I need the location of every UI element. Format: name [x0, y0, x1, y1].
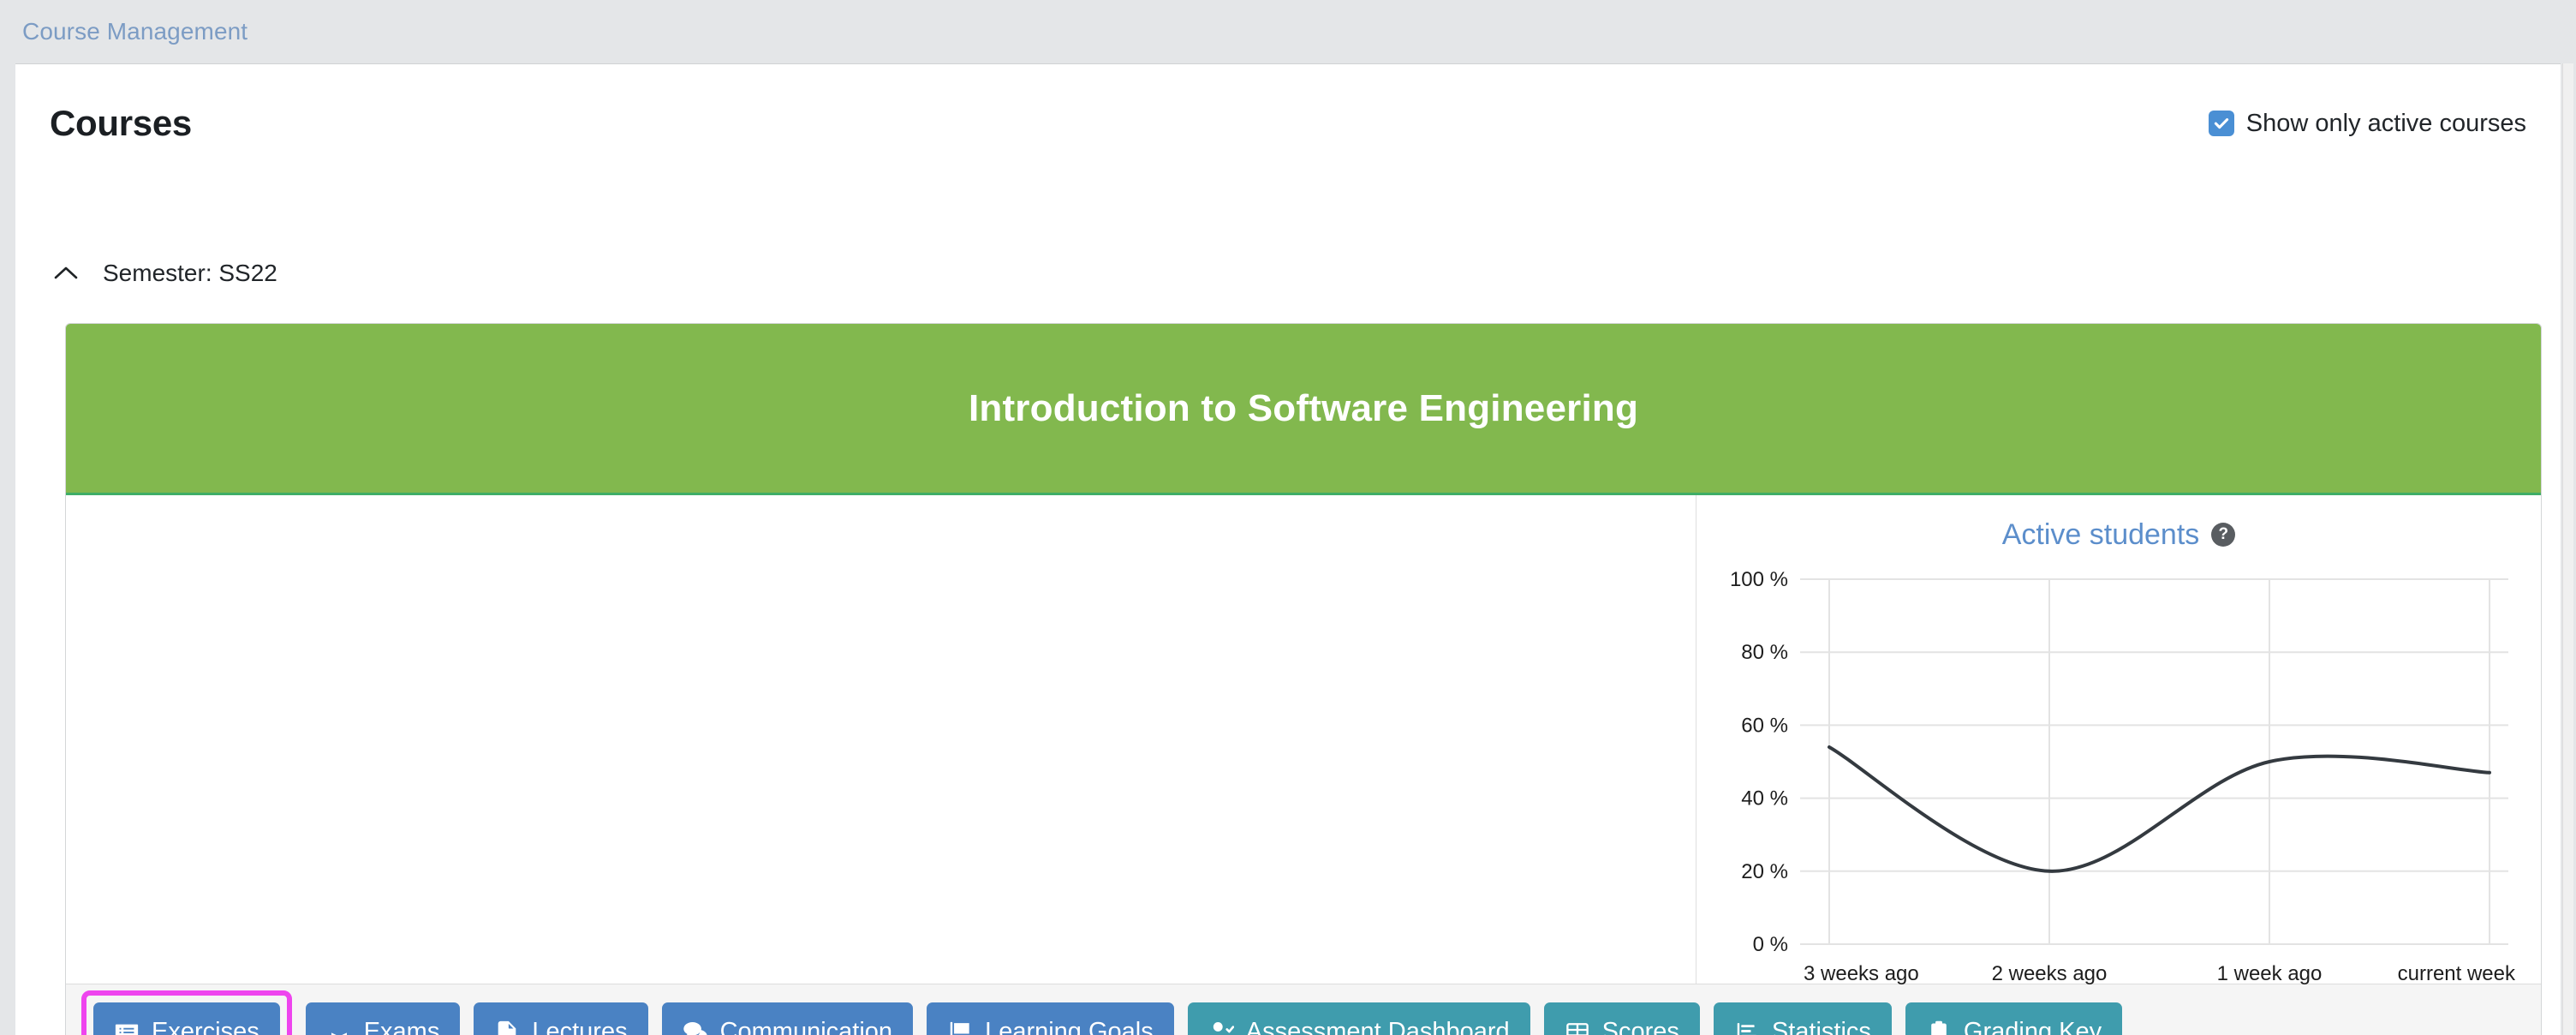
course-action-statistics-button[interactable]: Statistics [1714, 1002, 1892, 1035]
course-title: Introduction to Software Engineering [969, 387, 1638, 430]
x-axis-tick-label: 3 weeks ago [1804, 962, 1919, 985]
x-axis-tick-label: 2 weeks ago [1992, 962, 2108, 985]
flag-icon [947, 1020, 973, 1035]
course-action-exercises-button[interactable]: Exercises [93, 1002, 280, 1035]
course-description-area [66, 495, 1696, 984]
course-action-label: Scores [1602, 1020, 1679, 1035]
course-action-learning-goals-button[interactable]: Learning Goals [927, 1002, 1174, 1035]
y-axis-tick-label: 40 % [1741, 787, 1788, 811]
x-axis-tick-label: 1 week ago [2217, 962, 2323, 985]
question-mark-icon[interactable]: ? [2211, 523, 2235, 547]
breadcrumb-bar: Course Management [0, 0, 2576, 63]
y-axis-tick-label: 100 % [1730, 568, 1788, 591]
pdf-file-icon: PDF [494, 1020, 520, 1035]
course-action-label: Exercises [152, 1020, 259, 1035]
page-title: Courses [50, 103, 192, 144]
course-action-grading-key-button[interactable]: Grading Key [1905, 1002, 2122, 1035]
course-action-exams-button[interactable]: Exams [306, 1002, 461, 1035]
course-card: Introduction to Software Engineering Act… [65, 323, 2542, 1035]
show-only-active-courses-checkbox[interactable] [2209, 111, 2234, 136]
y-axis-tick-label: 80 % [1741, 641, 1788, 664]
user-check-icon [1208, 1020, 1234, 1035]
page-scrollbar[interactable] [2561, 63, 2576, 1035]
course-action-label: Statistics [1772, 1020, 1871, 1035]
course-action-scores-button[interactable]: Scores [1544, 1002, 1700, 1035]
course-action-lectures-button[interactable]: PDFLectures [474, 1002, 647, 1035]
course-action-communication-button[interactable]: Communication [662, 1002, 913, 1035]
table-icon [1565, 1020, 1590, 1035]
course-card-body: Active students ? 100 %80 %60 %40 %20 %0… [66, 495, 2541, 984]
chat-bubbles-icon [683, 1020, 708, 1035]
y-axis-tick-label: 20 % [1741, 860, 1788, 883]
chart-title: Active students [2002, 518, 2200, 552]
course-action-label: Learning Goals [985, 1020, 1154, 1035]
semester-label: Semester: SS22 [103, 260, 277, 287]
show-only-active-courses-toggle[interactable]: Show only active courses [2209, 110, 2526, 138]
graduation-cap-icon [326, 1020, 352, 1035]
course-banner[interactable]: Introduction to Software Engineering [66, 324, 2541, 495]
active-students-line-chart: 100 %80 %60 %40 %20 %0 %3 weeks ago2 wee… [1696, 559, 2541, 996]
active-students-chart: 100 %80 %60 %40 %20 %0 %3 weeks ago2 wee… [1696, 559, 2541, 996]
course-action-label: Communication [720, 1020, 892, 1035]
course-action-label: Lectures [532, 1020, 627, 1035]
breadcrumb-course-management[interactable]: Course Management [22, 18, 247, 45]
list-icon [114, 1020, 140, 1035]
course-action-label: Grading Key [1964, 1020, 2102, 1035]
page-scrollbar-track[interactable] [2562, 63, 2573, 1035]
chart-line-series [1829, 747, 2490, 871]
course-action-label: Exams [364, 1020, 440, 1035]
chevron-up-icon[interactable] [53, 262, 79, 284]
bar-chart-icon [1734, 1020, 1760, 1035]
clipboard-icon [1926, 1020, 1952, 1035]
course-management-page: Course Management Courses Show only acti… [0, 0, 2576, 1035]
course-action-assessment-dashboard-button[interactable]: Assessment Dashboard [1188, 1002, 1530, 1035]
active-students-panel: Active students ? 100 %80 %60 %40 %20 %0… [1696, 495, 2541, 984]
chart-header: Active students ? [1696, 511, 2541, 559]
show-only-active-courses-label: Show only active courses [2246, 110, 2526, 138]
content-sheet: Courses Show only active courses Semeste… [15, 63, 2561, 1035]
semester-group-header[interactable]: Semester: SS22 [53, 260, 277, 287]
y-axis-tick-label: 0 % [1753, 933, 1788, 956]
page-header: Courses Show only active courses [50, 93, 2526, 153]
y-axis-tick-label: 60 % [1741, 714, 1788, 737]
highlight-outline: Exercises [81, 990, 292, 1035]
course-action-label: Assessment Dashboard [1246, 1020, 1510, 1035]
x-axis-tick-label: current week [2398, 962, 2516, 985]
